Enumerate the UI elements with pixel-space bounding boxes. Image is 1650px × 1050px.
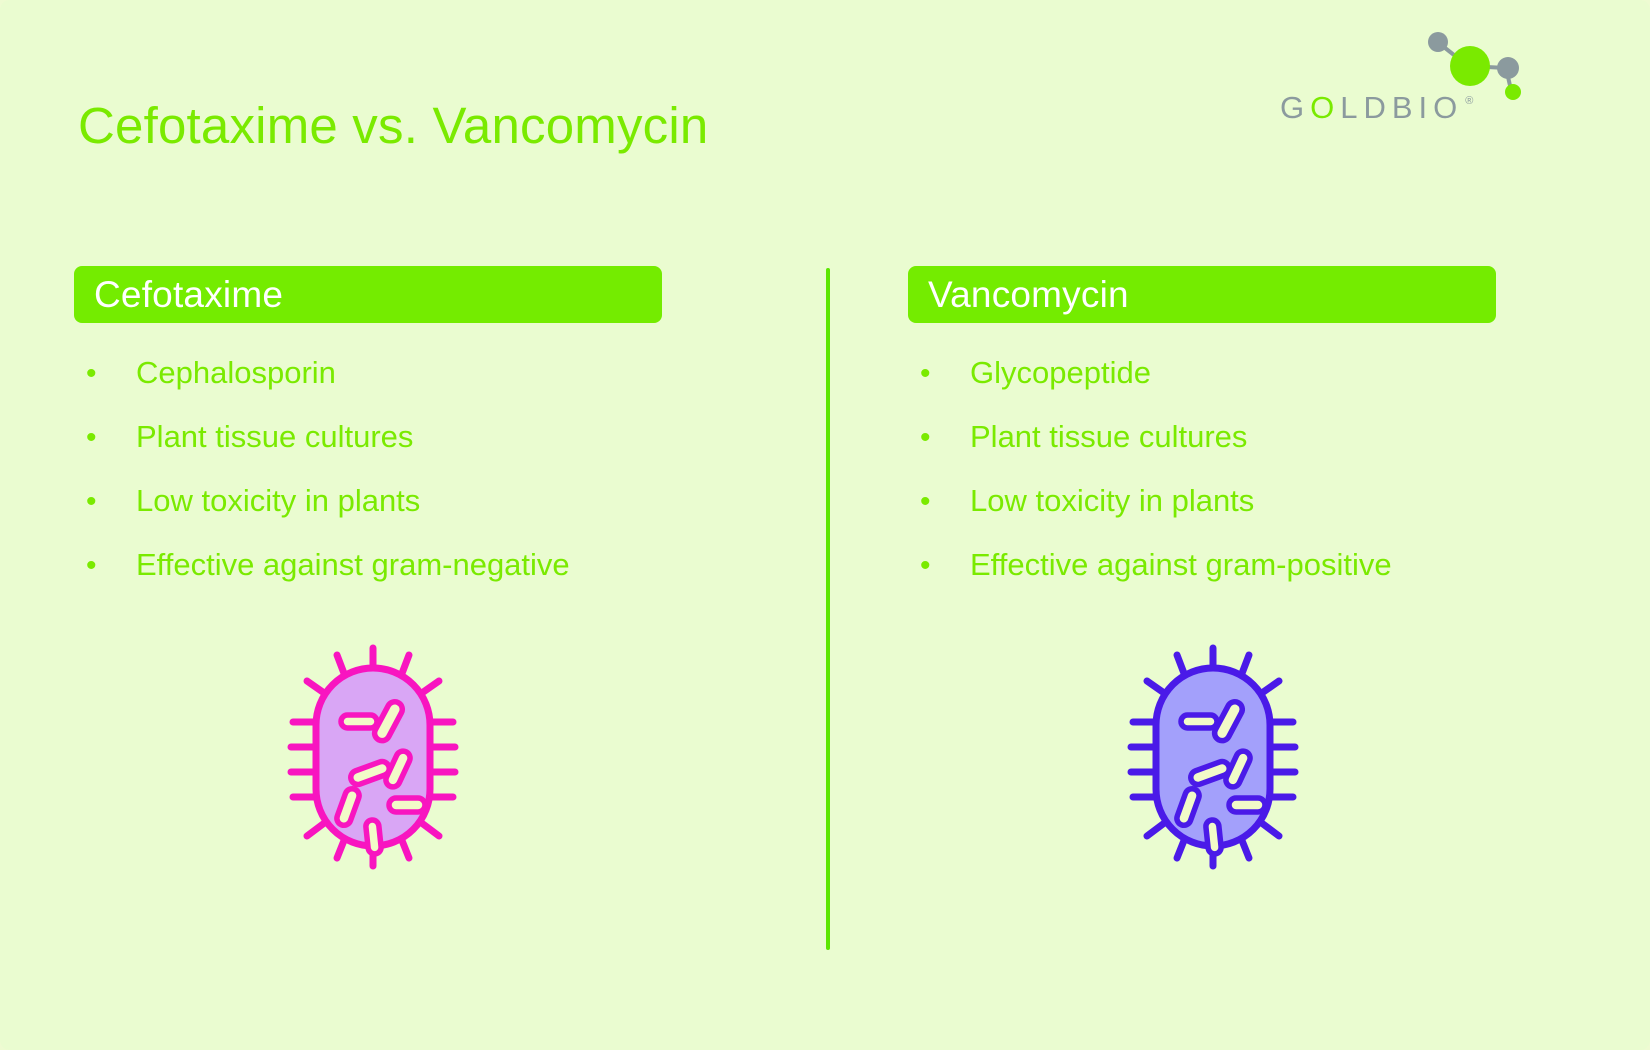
bullet-list-cefotaxime: • Cephalosporin • Plant tissue cultures …	[74, 355, 662, 611]
molecule-node-gray-1	[1428, 32, 1448, 52]
bullet-text: Plant tissue cultures	[970, 419, 1247, 455]
list-item: • Low toxicity in plants	[74, 483, 662, 547]
bullet-marker-icon: •	[74, 551, 136, 581]
goldbio-wordmark: GOLDBIO®	[1280, 90, 1473, 126]
bullet-marker-icon: •	[74, 487, 136, 517]
column-divider	[826, 268, 830, 950]
list-item: • Glycopeptide	[908, 355, 1496, 419]
bullet-text: Effective against gram-negative	[136, 547, 570, 583]
bullet-text: Cephalosporin	[136, 355, 336, 391]
bullet-marker-icon: •	[74, 423, 136, 453]
list-item: • Effective against gram-positive	[908, 547, 1496, 611]
molecule-node-green-small	[1505, 84, 1521, 100]
page-title: Cefotaxime vs. Vancomycin	[78, 96, 708, 155]
bacterium-icon-gram-positive	[1123, 640, 1303, 870]
wordmark-g: G	[1280, 90, 1310, 126]
list-item: • Cephalosporin	[74, 355, 662, 419]
list-item: • Plant tissue cultures	[908, 419, 1496, 483]
list-item: • Effective against gram-negative	[74, 547, 662, 611]
bullet-text: Low toxicity in plants	[136, 483, 420, 519]
bullet-marker-icon: •	[74, 359, 136, 389]
bullet-marker-icon: •	[908, 359, 970, 389]
wordmark-ldbio: LDBIO	[1340, 90, 1463, 126]
column-header-vancomycin: Vancomycin	[908, 266, 1496, 323]
bacterium-icon-gram-negative	[283, 640, 463, 870]
list-item: • Plant tissue cultures	[74, 419, 662, 483]
bullet-marker-icon: •	[908, 487, 970, 517]
column-cefotaxime: Cefotaxime • Cephalosporin • Plant tissu…	[74, 266, 662, 611]
molecule-node-green-large	[1450, 46, 1490, 86]
wordmark-o: O	[1310, 90, 1340, 126]
bullet-marker-icon: •	[908, 423, 970, 453]
column-header-label: Vancomycin	[928, 276, 1129, 313]
bullet-text: Plant tissue cultures	[136, 419, 413, 455]
bullet-text: Glycopeptide	[970, 355, 1151, 391]
molecule-node-gray-2	[1497, 57, 1519, 79]
bullet-text: Effective against gram-positive	[970, 547, 1392, 583]
bullet-text: Low toxicity in plants	[970, 483, 1254, 519]
list-item: • Low toxicity in plants	[908, 483, 1496, 547]
registered-trademark-mark: ®	[1465, 95, 1473, 107]
column-header-label: Cefotaxime	[94, 276, 283, 313]
goldbio-logo: GOLDBIO®	[1280, 28, 1530, 128]
bullet-marker-icon: •	[908, 551, 970, 581]
slide-canvas: GOLDBIO® Cefotaxime vs. Vancomycin Cefot…	[0, 0, 1650, 1050]
bullet-list-vancomycin: • Glycopeptide • Plant tissue cultures •…	[908, 355, 1496, 611]
column-vancomycin: Vancomycin • Glycopeptide • Plant tissue…	[908, 266, 1496, 611]
column-header-cefotaxime: Cefotaxime	[74, 266, 662, 323]
